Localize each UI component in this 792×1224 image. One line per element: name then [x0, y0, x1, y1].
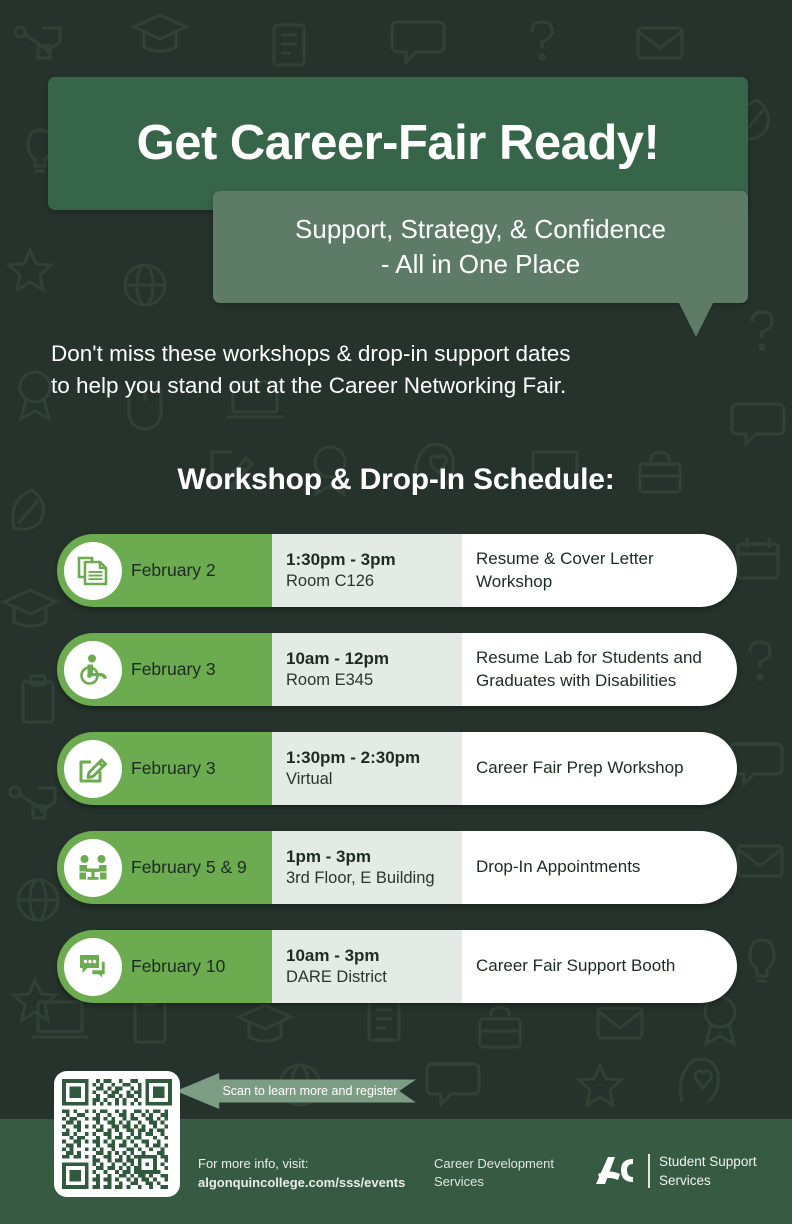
- subtitle-line-2: - All in One Place: [295, 247, 666, 282]
- qr-code[interactable]: [54, 1071, 180, 1197]
- schedule-row-time-cell: 1pm - 3pm 3rd Floor, E Building: [272, 831, 462, 904]
- schedule-row-desc-cell: Career Fair Support Booth: [462, 930, 737, 1003]
- sss-line-1: Student Support: [659, 1152, 757, 1171]
- schedule-row-desc-cell: Drop-In Appointments: [462, 831, 737, 904]
- schedule-row: February 10 10am - 3pm DARE District Car…: [57, 930, 737, 1003]
- intro-line-1: Don't miss these workshops & drop-in sup…: [51, 338, 751, 370]
- schedule-row-location: 3rd Floor, E Building: [286, 868, 462, 889]
- more-info-label: For more info, visit:: [198, 1155, 405, 1174]
- student-support-services-label: Student Support Services: [659, 1152, 757, 1190]
- schedule-row-time: 1:30pm - 3pm: [286, 549, 462, 571]
- poster-canvas: Get Career-Fair Ready! Support, Strategy…: [0, 0, 792, 1224]
- schedule-row-description: Drop-In Appointments: [476, 856, 640, 878]
- logo-divider: [648, 1154, 650, 1188]
- schedule-row: February 3 10am - 12pm Room E345 Resume …: [57, 633, 737, 706]
- subtitle-line-1: Support, Strategy, & Confidence: [295, 212, 666, 247]
- schedule-row: February 2 1:30pm - 3pm Room C126 Resume…: [57, 534, 737, 607]
- schedule-row-description: Career Fair Prep Workshop: [476, 757, 684, 779]
- schedule-row-date-cell: February 3: [57, 633, 272, 706]
- schedule-row-location: Room C126: [286, 571, 462, 592]
- schedule-row-desc-cell: Resume & Cover Letter Workshop: [462, 534, 737, 607]
- schedule-row-date: February 3: [131, 759, 216, 778]
- algonquin-college-logo: Student Support Services: [593, 1152, 757, 1190]
- schedule-row-description: Resume Lab for Students and Graduates wi…: [476, 647, 715, 692]
- schedule-row-time-cell: 1:30pm - 2:30pm Virtual: [272, 732, 462, 805]
- chat-bubbles-icon: [64, 938, 122, 996]
- page-title: Get Career-Fair Ready!: [137, 118, 660, 169]
- schedule-row-description: Career Fair Support Booth: [476, 955, 675, 977]
- sss-line-2: Services: [659, 1171, 757, 1190]
- more-info-url[interactable]: algonquincollege.com/sss/events: [198, 1174, 405, 1193]
- schedule-row-time-cell: 10am - 12pm Room E345: [272, 633, 462, 706]
- subtitle-text: Support, Strategy, & Confidence - All in…: [277, 212, 684, 282]
- schedule-row-location: Room E345: [286, 670, 462, 691]
- schedule-row-time: 1pm - 3pm: [286, 846, 462, 868]
- schedule-row-location: Virtual: [286, 769, 462, 790]
- ac-logo-icon: [593, 1154, 639, 1188]
- schedule-row: February 3 1:30pm - 2:30pm Virtual Caree…: [57, 732, 737, 805]
- more-info-block: For more info, visit: algonquincollege.c…: [198, 1155, 405, 1193]
- schedule-heading: Workshop & Drop-In Schedule:: [0, 463, 792, 497]
- schedule-row-date-cell: February 2: [57, 534, 272, 607]
- schedule-row-time-cell: 1:30pm - 3pm Room C126: [272, 534, 462, 607]
- schedule-row-time: 1:30pm - 2:30pm: [286, 747, 462, 769]
- schedule-row-description: Resume & Cover Letter Workshop: [476, 548, 715, 593]
- poster-subtitle-box: Support, Strategy, & Confidence - All in…: [213, 191, 748, 303]
- schedule-row-date: February 5 & 9: [131, 858, 247, 877]
- intro-paragraph: Don't miss these workshops & drop-in sup…: [51, 338, 751, 402]
- schedule-row-time-cell: 10am - 3pm DARE District: [272, 930, 462, 1003]
- qr-code-image: [62, 1079, 172, 1189]
- cds-line-2: Services: [434, 1173, 554, 1191]
- career-development-services-label: Career Development Services: [434, 1155, 554, 1192]
- edit-pencil-icon: [64, 740, 122, 798]
- meeting-people-icon: [64, 839, 122, 897]
- documents-icon: [64, 542, 122, 600]
- schedule-row-desc-cell: Career Fair Prep Workshop: [462, 732, 737, 805]
- speech-bubble-tail: [678, 301, 714, 337]
- schedule-row-date: February 10: [131, 957, 225, 976]
- schedule-row-location: DARE District: [286, 967, 462, 988]
- schedule-row: February 5 & 9 1pm - 3pm 3rd Floor, E Bu…: [57, 831, 737, 904]
- schedule-row-time: 10am - 3pm: [286, 945, 462, 967]
- intro-line-2: to help you stand out at the Career Netw…: [51, 370, 751, 402]
- schedule-row-date: February 3: [131, 660, 216, 679]
- cds-line-1: Career Development: [434, 1155, 554, 1173]
- schedule-row-desc-cell: Resume Lab for Students and Graduates wi…: [462, 633, 737, 706]
- accessibility-wheelchair-icon: [64, 641, 122, 699]
- schedule-row-date-cell: February 5 & 9: [57, 831, 272, 904]
- schedule-list: February 2 1:30pm - 3pm Room C126 Resume…: [57, 534, 737, 1003]
- schedule-row-date: February 2: [131, 561, 216, 580]
- schedule-row-time: 10am - 12pm: [286, 648, 462, 670]
- schedule-row-date-cell: February 3: [57, 732, 272, 805]
- schedule-row-date-cell: February 10: [57, 930, 272, 1003]
- scan-banner: Scan to learn more and register: [176, 1073, 416, 1109]
